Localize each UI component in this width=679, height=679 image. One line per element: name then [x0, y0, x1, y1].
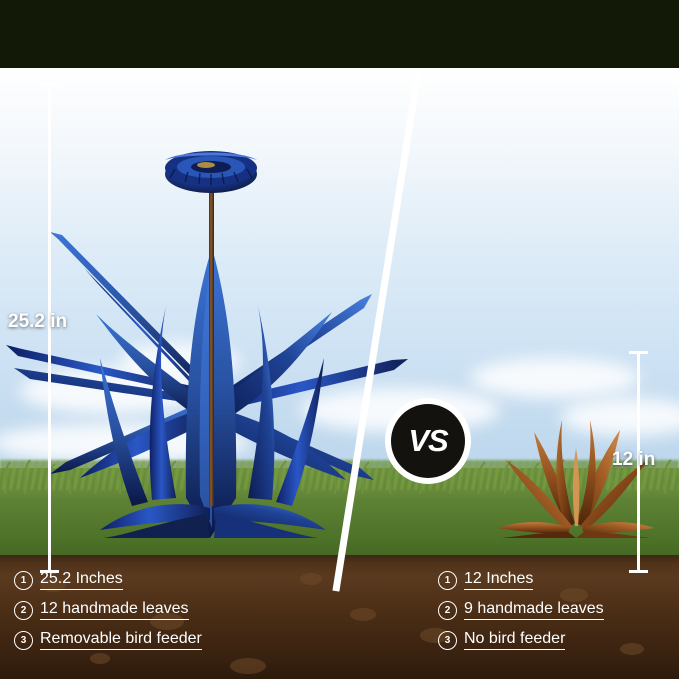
feature-text: 12 Inches	[464, 570, 533, 590]
list-item: 3 Removable bird feeder	[14, 630, 202, 650]
scene: 25.2 in 12 in 1 25.2 Inches 2 12 handmad…	[0, 68, 679, 679]
header-banner	[0, 0, 679, 68]
vs-badge: VS	[385, 398, 471, 484]
list-item: 2 9 handmade leaves	[438, 600, 604, 620]
feature-number: 2	[438, 601, 457, 620]
list-item: 2 12 handmade leaves	[14, 600, 202, 620]
feature-number: 2	[14, 601, 33, 620]
feature-number: 3	[438, 631, 457, 650]
feature-text: 12 handmade leaves	[40, 600, 189, 620]
feature-text: 25.2 Inches	[40, 570, 123, 590]
feature-number: 1	[438, 571, 457, 590]
soil-speck	[90, 653, 110, 664]
vs-badge-label: VS	[408, 423, 447, 459]
list-item: 1 12 Inches	[438, 570, 604, 590]
left-measurement-label: 25.2 in	[8, 311, 67, 333]
feature-number: 3	[14, 631, 33, 650]
right-measurement-label: 12 in	[612, 449, 655, 471]
list-item: 3 No bird feeder	[438, 630, 604, 650]
soil-speck	[300, 573, 322, 585]
right-feature-list: 1 12 Inches 2 9 handmade leaves 3 No bir…	[438, 570, 604, 650]
feature-text: 9 handmade leaves	[464, 600, 604, 620]
soil-speck	[350, 608, 376, 621]
vs-badge-disc: VS	[391, 404, 465, 478]
soil-speck	[620, 643, 644, 655]
feature-number: 1	[14, 571, 33, 590]
right-plant-copper-agave	[480, 348, 670, 538]
feature-text: Removable bird feeder	[40, 630, 202, 650]
product-comparison-image: 25.2 in 12 in 1 25.2 Inches 2 12 handmad…	[0, 0, 679, 679]
feature-text: No bird feeder	[464, 630, 565, 650]
list-item: 1 25.2 Inches	[14, 570, 202, 590]
left-feature-list: 1 25.2 Inches 2 12 handmade leaves 3 Rem…	[14, 570, 202, 650]
soil-speck	[230, 658, 266, 674]
